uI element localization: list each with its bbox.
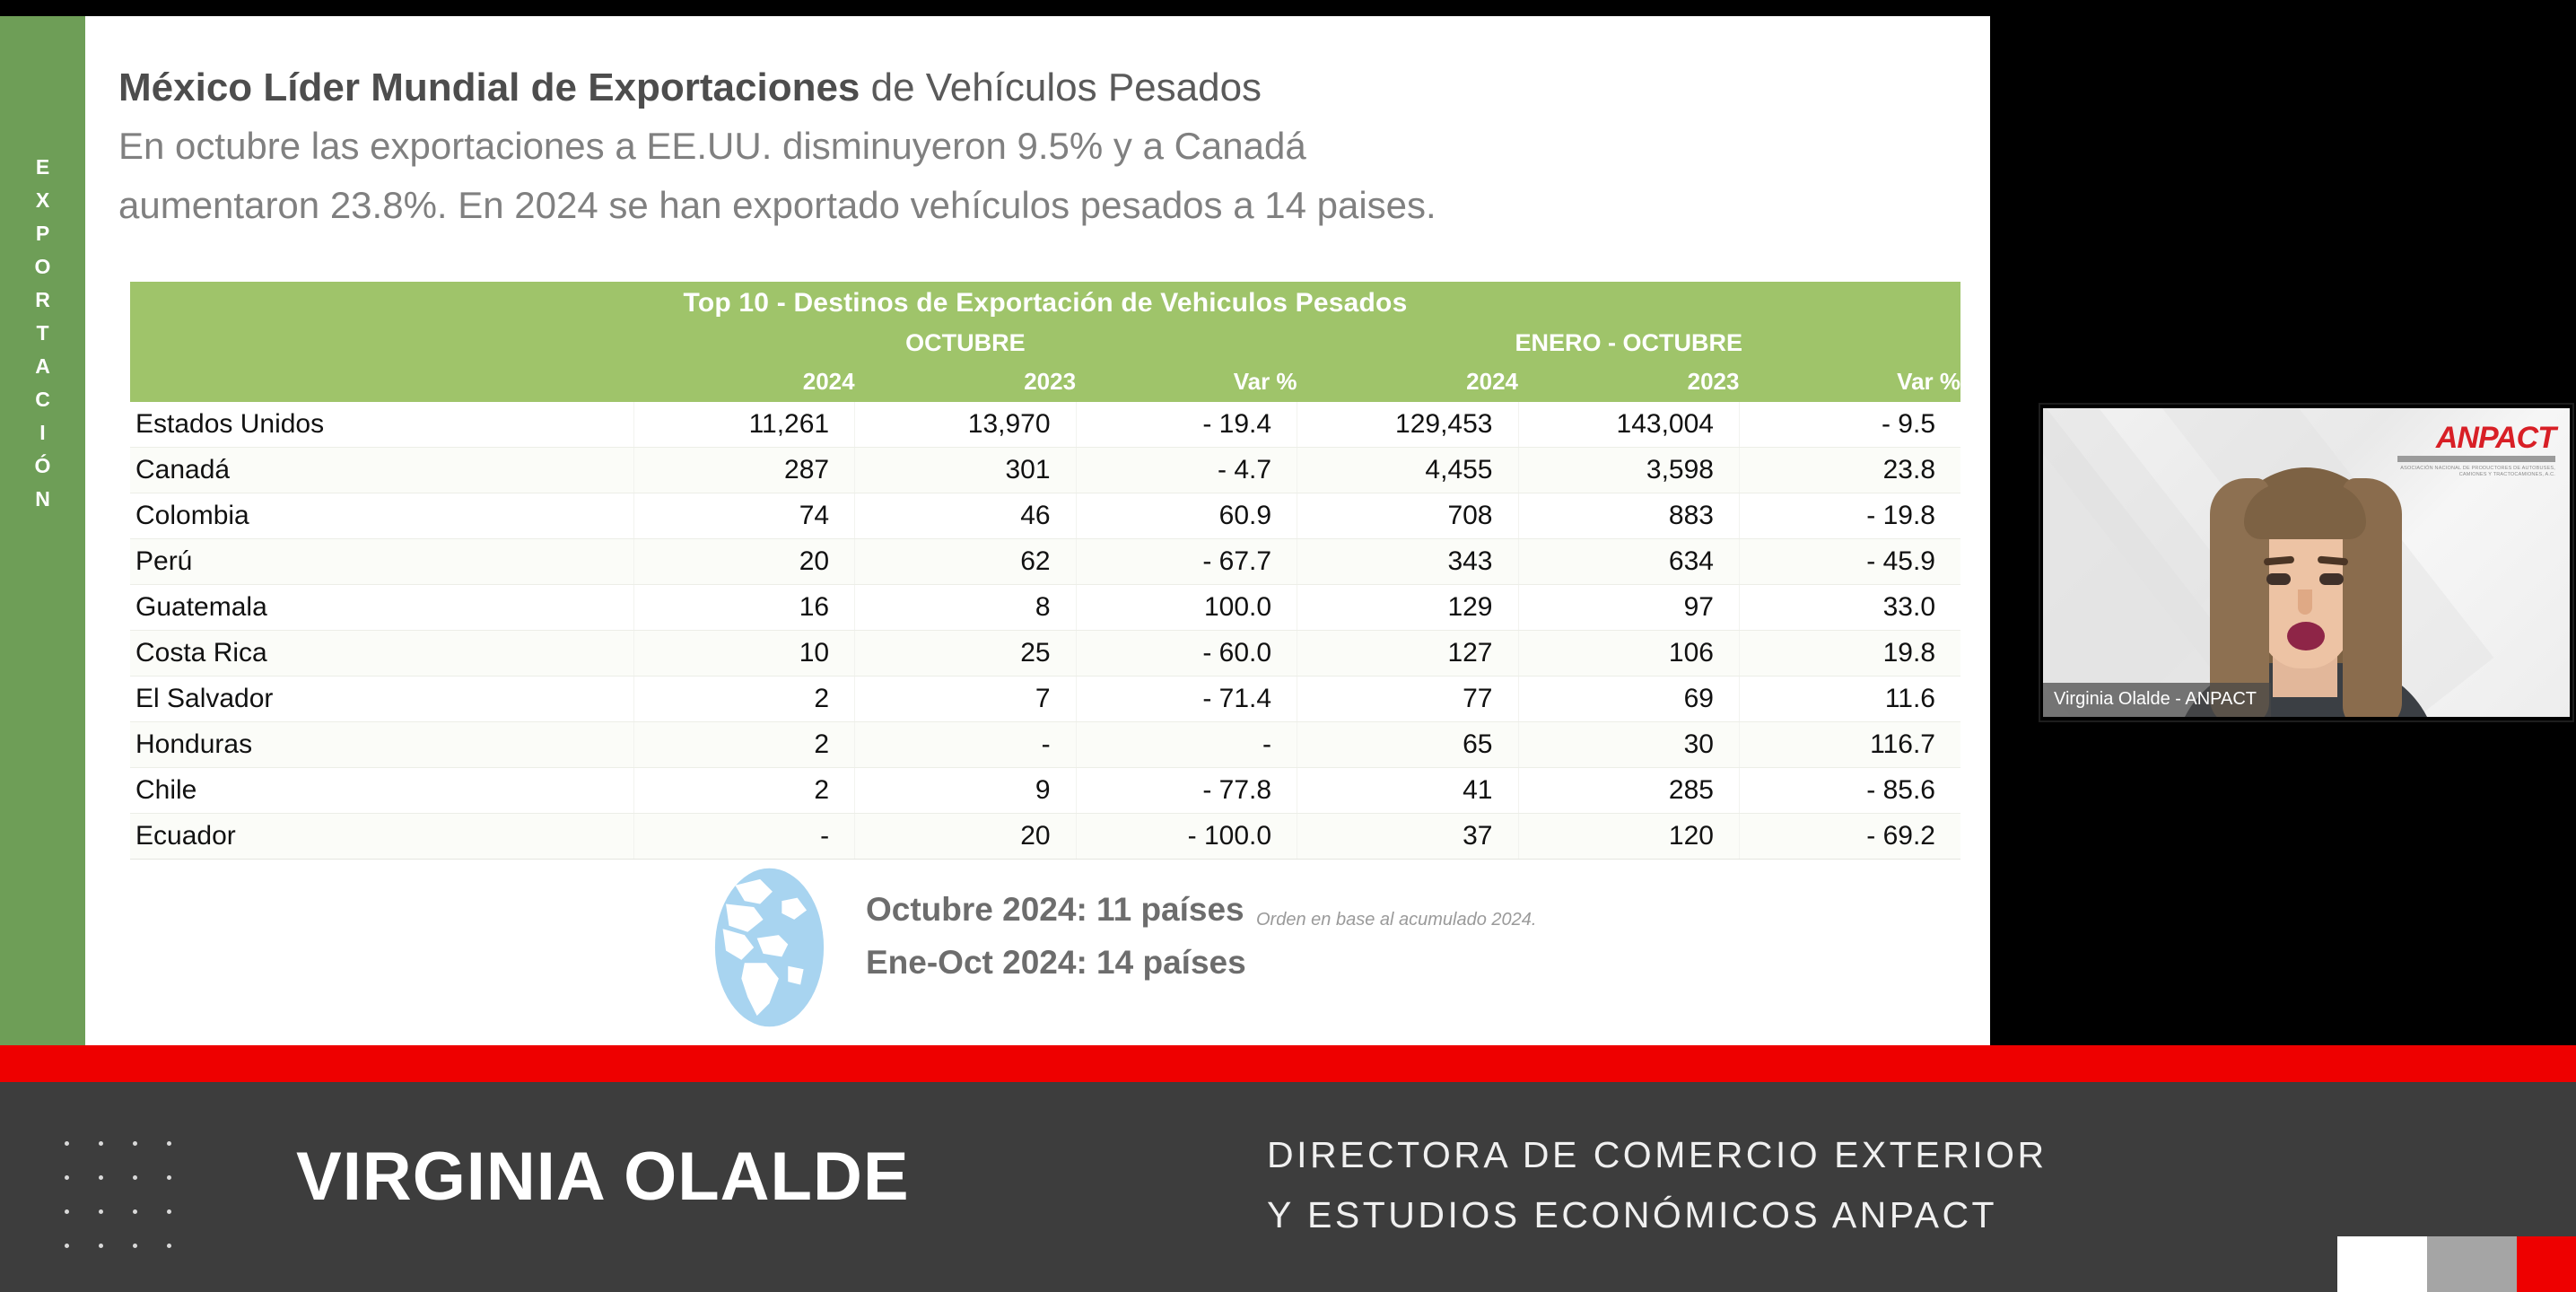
- lower-third-banner: VIRGINIA OLALDE DIRECTORA DE COMERCIO EX…: [0, 1082, 2576, 1292]
- cell-country: Colombia: [130, 493, 633, 539]
- dot: [99, 1141, 103, 1146]
- cell-acc-var: - 9.5: [1739, 402, 1960, 448]
- cell-country: Ecuador: [130, 814, 633, 860]
- anpact-wordmark: ANPACT: [2397, 423, 2555, 453]
- cell-oct-var: 100.0: [1076, 585, 1297, 631]
- cell-oct-2023: 20: [855, 814, 1076, 860]
- corner-block-gray: [2427, 1236, 2517, 1292]
- eye-right: [2319, 573, 2344, 585]
- cell-acc-var: - 85.6: [1739, 768, 1960, 814]
- corner-block-red: [2517, 1236, 2576, 1292]
- slide-headline: México Líder Mundial de Exportaciones de…: [118, 59, 1949, 235]
- table-row: Estados Unidos11,26113,970- 19.4129,4531…: [130, 402, 1960, 448]
- group-header-enero-octubre: ENERO - OCTUBRE: [1297, 325, 1960, 361]
- sidebar-letter: I: [0, 416, 85, 450]
- dot: [99, 1244, 103, 1248]
- table-row: Honduras2--6530116.7: [130, 722, 1960, 768]
- dot: [133, 1209, 137, 1214]
- sidebar-letter: E: [0, 151, 85, 184]
- hair-fringe: [2244, 484, 2366, 539]
- page-title: México Líder Mundial de Exportaciones de…: [118, 59, 1949, 117]
- cell-oct-2023: 7: [855, 677, 1076, 722]
- cell-oct-var: - 19.4: [1076, 402, 1297, 448]
- sidebar-letter: N: [0, 483, 85, 516]
- table-body: Estados Unidos11,26113,970- 19.4129,4531…: [130, 402, 1960, 860]
- cell-oct-2023: -: [855, 722, 1076, 768]
- column-header-country: [130, 361, 633, 402]
- participant-video-tile[interactable]: ANPACT ASOCIACIÓN NACIONAL DE PRODUCTORE…: [2039, 403, 2574, 722]
- table-header: Top 10 - Destinos de Exportación de Vehi…: [130, 282, 1960, 402]
- sidebar-letter: O: [0, 250, 85, 284]
- dot: [133, 1141, 137, 1146]
- order-note: Orden en base al acumulado 2024.: [1256, 910, 1536, 930]
- column-header-oct-2023: 2023: [855, 361, 1076, 402]
- table-row: Chile29- 77.841285- 85.6: [130, 768, 1960, 814]
- cell-oct-2023: 62: [855, 539, 1076, 585]
- slide-footer: Octubre 2024: 11 países Ene-Oct 2024: 14…: [130, 867, 1960, 1037]
- cell-acc-2024: 65: [1297, 722, 1518, 768]
- corner-block-white: [2337, 1236, 2427, 1292]
- video-feed: ANPACT ASOCIACIÓN NACIONAL DE PRODUCTORE…: [2043, 408, 2570, 717]
- dot: [65, 1141, 69, 1146]
- dot: [167, 1244, 171, 1248]
- nose: [2298, 589, 2312, 615]
- column-header-oct-2024: 2024: [633, 361, 854, 402]
- cell-oct-2024: 16: [633, 585, 854, 631]
- cell-acc-var: - 45.9: [1739, 539, 1960, 585]
- cell-oct-2023: 46: [855, 493, 1076, 539]
- dot: [65, 1175, 69, 1180]
- sidebar-letter: T: [0, 317, 85, 350]
- cell-acc-2024: 37: [1297, 814, 1518, 860]
- subtitle-line-2: aumentaron 23.8%. En 2024 se han exporta…: [118, 176, 1949, 235]
- dot: [167, 1209, 171, 1214]
- cell-acc-2023: 97: [1518, 585, 1739, 631]
- cell-acc-2023: 3,598: [1518, 448, 1739, 493]
- cell-country: Honduras: [130, 722, 633, 768]
- cell-acc-var: 11.6: [1739, 677, 1960, 722]
- anpact-tagline: ASOCIACIÓN NACIONAL DE PRODUCTORES DE AU…: [2397, 466, 2555, 478]
- column-header-acc-2024: 2024: [1297, 361, 1518, 402]
- table-row: Canadá287301- 4.74,4553,59823.8: [130, 448, 1960, 493]
- cell-acc-2023: 106: [1518, 631, 1739, 677]
- dot: [167, 1175, 171, 1180]
- speaker-name: VIRGINIA OLALDE: [296, 1132, 910, 1222]
- cell-oct-2023: 301: [855, 448, 1076, 493]
- globe-icon: [691, 867, 848, 1028]
- cell-oct-2024: 2: [633, 722, 854, 768]
- cell-country: El Salvador: [130, 677, 633, 722]
- cell-acc-2023: 30: [1518, 722, 1739, 768]
- cell-acc-2024: 129,453: [1297, 402, 1518, 448]
- sidebar-letter: X: [0, 184, 85, 217]
- export-destinations-table: Top 10 - Destinos de Exportación de Vehi…: [130, 282, 1960, 860]
- table-row: Guatemala168100.01299733.0: [130, 585, 1960, 631]
- cell-oct-var: -: [1076, 722, 1297, 768]
- sidebar-letter: A: [0, 350, 85, 383]
- cell-oct-2024: -: [633, 814, 854, 860]
- cell-oct-var: 60.9: [1076, 493, 1297, 539]
- cell-acc-2024: 129: [1297, 585, 1518, 631]
- speaker-role: DIRECTORA DE COMERCIO EXTERIOR Y ESTUDIO…: [1267, 1125, 2048, 1245]
- countries-summary: Octubre 2024: 11 países Ene-Oct 2024: 14…: [866, 883, 1246, 989]
- cell-oct-var: - 60.0: [1076, 631, 1297, 677]
- eye-left: [2266, 573, 2291, 585]
- anpact-rule: [2397, 456, 2555, 462]
- table-row: Ecuador-20- 100.037120- 69.2: [130, 814, 1960, 860]
- table-column-row: 2024 2023 Var % 2024 2023 Var %: [130, 361, 1960, 402]
- cell-acc-var: - 69.2: [1739, 814, 1960, 860]
- dot: [65, 1209, 69, 1214]
- dot: [133, 1244, 137, 1248]
- dot: [167, 1141, 171, 1146]
- cell-acc-2024: 127: [1297, 631, 1518, 677]
- sidebar-letter: P: [0, 217, 85, 250]
- cell-acc-var: 116.7: [1739, 722, 1960, 768]
- dot: [65, 1244, 69, 1248]
- cell-acc-2024: 41: [1297, 768, 1518, 814]
- sidebar-letter: Ó: [0, 450, 85, 483]
- table-banner-row: Top 10 - Destinos de Exportación de Vehi…: [130, 282, 1960, 325]
- cell-acc-2023: 634: [1518, 539, 1739, 585]
- cell-oct-2023: 13,970: [855, 402, 1076, 448]
- cell-country: Estados Unidos: [130, 402, 633, 448]
- cell-oct-2024: 10: [633, 631, 854, 677]
- table-row: Perú2062- 67.7343634- 45.9: [130, 539, 1960, 585]
- cell-oct-var: - 100.0: [1076, 814, 1297, 860]
- cell-acc-2023: 285: [1518, 768, 1739, 814]
- countries-line-1: Octubre 2024: 11 países: [866, 883, 1246, 936]
- cell-country: Guatemala: [130, 585, 633, 631]
- column-header-oct-var: Var %: [1076, 361, 1297, 402]
- table-group-row: OCTUBRE ENERO - OCTUBRE: [130, 325, 1960, 361]
- cell-acc-2023: 143,004: [1518, 402, 1739, 448]
- speaker-role-line-1: DIRECTORA DE COMERCIO EXTERIOR: [1267, 1125, 2048, 1185]
- presentation-slide: EXPORTACIÓN México Líder Mundial de Expo…: [0, 16, 1990, 1045]
- cell-oct-2023: 25: [855, 631, 1076, 677]
- export-destinations-table-wrapper: Top 10 - Destinos de Exportación de Vehi…: [130, 282, 1960, 860]
- cell-acc-2023: 120: [1518, 814, 1739, 860]
- cell-oct-var: - 77.8: [1076, 768, 1297, 814]
- speaker-role-line-2: Y ESTUDIOS ECONÓMICOS ANPACT: [1267, 1185, 2048, 1245]
- subtitle-line-1: En octubre las exportaciones a EE.UU. di…: [118, 117, 1949, 176]
- cell-acc-var: - 19.8: [1739, 493, 1960, 539]
- cell-acc-2024: 343: [1297, 539, 1518, 585]
- mouth: [2287, 622, 2325, 650]
- participant-name-chip: Virginia Olalde - ANPACT: [2043, 683, 2271, 717]
- cell-oct-var: - 4.7: [1076, 448, 1297, 493]
- table-row: El Salvador27- 71.4776911.6: [130, 677, 1960, 722]
- dot: [99, 1175, 103, 1180]
- cell-acc-var: 33.0: [1739, 585, 1960, 631]
- cell-oct-2024: 74: [633, 493, 854, 539]
- cell-oct-var: - 67.7: [1076, 539, 1297, 585]
- cell-acc-2024: 77: [1297, 677, 1518, 722]
- cell-oct-var: - 71.4: [1076, 677, 1297, 722]
- dot-grid-decoration: [65, 1141, 201, 1278]
- cell-acc-var: 23.8: [1739, 448, 1960, 493]
- anpact-logo: ANPACT ASOCIACIÓN NACIONAL DE PRODUCTORE…: [2397, 423, 2555, 478]
- column-header-acc-var: Var %: [1739, 361, 1960, 402]
- cell-country: Perú: [130, 539, 633, 585]
- dot: [133, 1175, 137, 1180]
- column-header-acc-2023: 2023: [1518, 361, 1739, 402]
- table-row: Colombia744660.9708883- 19.8: [130, 493, 1960, 539]
- sidebar-letter: C: [0, 383, 85, 416]
- accent-divider: [0, 1045, 2576, 1082]
- cell-oct-2024: 287: [633, 448, 854, 493]
- group-header-blank: [130, 325, 633, 361]
- sidebar-letter: R: [0, 284, 85, 317]
- video-stage: EXPORTACIÓN México Líder Mundial de Expo…: [0, 0, 2576, 1292]
- cell-acc-var: 19.8: [1739, 631, 1960, 677]
- cell-country: Canadá: [130, 448, 633, 493]
- dot: [99, 1209, 103, 1214]
- cell-country: Costa Rica: [130, 631, 633, 677]
- speaker-portrait: [2167, 458, 2445, 717]
- cell-acc-2024: 4,455: [1297, 448, 1518, 493]
- cell-oct-2024: 20: [633, 539, 854, 585]
- table-title: Top 10 - Destinos de Exportación de Vehi…: [130, 282, 1960, 325]
- page-title-rest: de Vehículos Pesados: [860, 65, 1262, 109]
- cell-oct-2024: 2: [633, 677, 854, 722]
- sidebar-exportacion: EXPORTACIÓN: [0, 16, 85, 1045]
- cell-oct-2023: 8: [855, 585, 1076, 631]
- countries-line-2: Ene-Oct 2024: 14 países: [866, 936, 1246, 989]
- group-header-octubre: OCTUBRE: [633, 325, 1297, 361]
- cell-acc-2023: 69: [1518, 677, 1739, 722]
- cell-oct-2024: 2: [633, 768, 854, 814]
- sidebar-vertical-label: EXPORTACIÓN: [0, 151, 85, 516]
- cell-country: Chile: [130, 768, 633, 814]
- cell-acc-2024: 708: [1297, 493, 1518, 539]
- page-title-strong: México Líder Mundial de Exportaciones: [118, 65, 860, 109]
- cell-oct-2023: 9: [855, 768, 1076, 814]
- cell-oct-2024: 11,261: [633, 402, 854, 448]
- table-row: Costa Rica1025- 60.012710619.8: [130, 631, 1960, 677]
- cell-acc-2023: 883: [1518, 493, 1739, 539]
